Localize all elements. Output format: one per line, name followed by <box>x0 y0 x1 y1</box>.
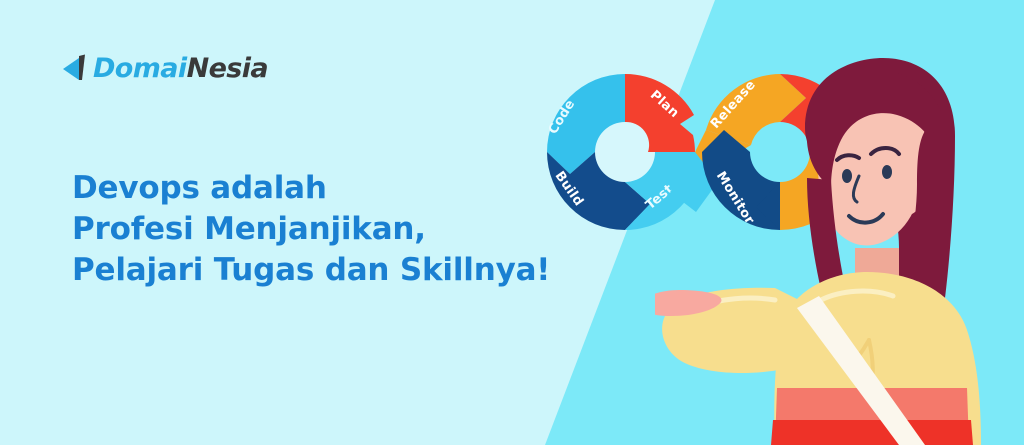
eye-left <box>842 169 852 183</box>
woman-pointing-illustration <box>655 58 1024 445</box>
logo-text-domai: Domai <box>93 53 187 84</box>
devops-banner: DomaiNesia Devops adalah Profesi Menjanj… <box>0 0 1024 445</box>
triangle-play-icon <box>62 53 92 83</box>
eye-right <box>882 165 892 179</box>
headline: Devops adalah Profesi Menjanjikan, Pelaj… <box>72 168 550 291</box>
headline-line-2: Profesi Menjanjikan, <box>72 209 550 250</box>
skirt-lower <box>771 420 973 445</box>
headline-line-1: Devops adalah <box>72 168 550 209</box>
logo-text-nesia: Nesia <box>187 53 268 84</box>
headline-line-3: Pelajari Tugas dan Skillnya! <box>72 250 550 291</box>
domainesia-logo[interactable]: DomaiNesia <box>62 48 268 88</box>
